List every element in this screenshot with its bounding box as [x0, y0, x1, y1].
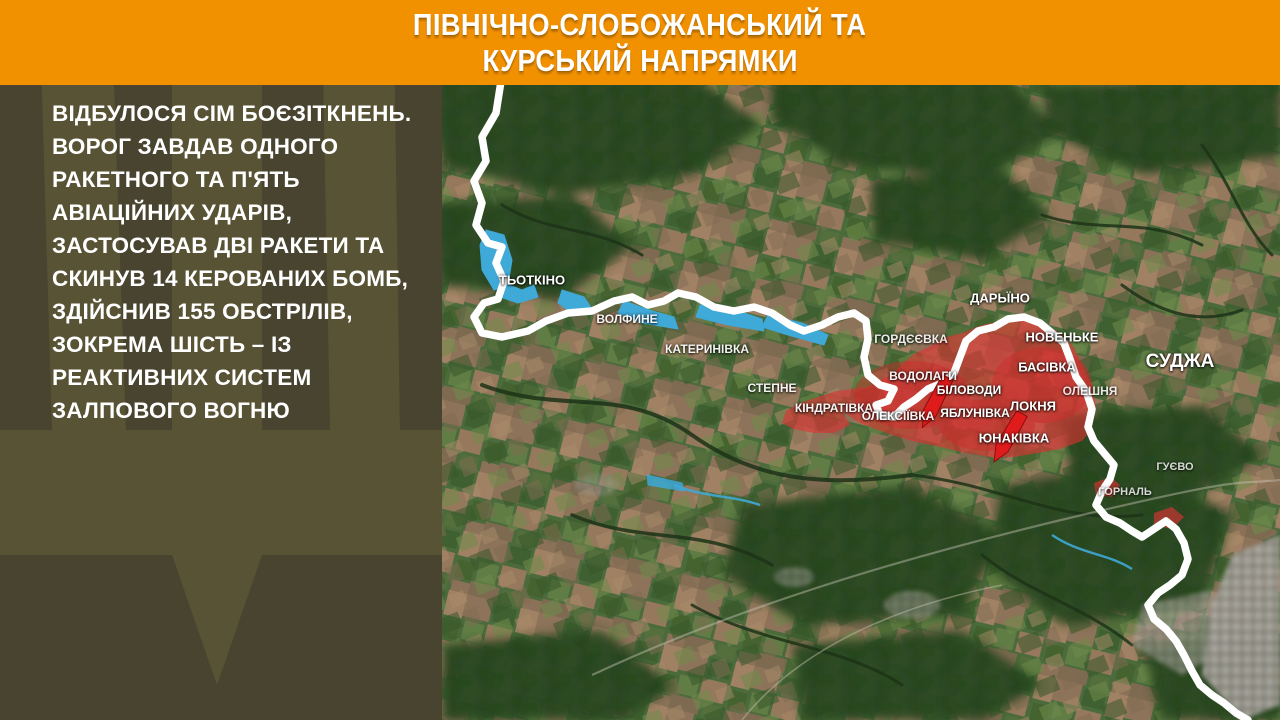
map-graphics — [442, 85, 1280, 720]
header-banner: ПІВНІЧНО-СЛОБОЖАНСЬКИЙ ТА КУРСЬКИЙ НАПРЯ… — [0, 0, 1280, 85]
summary-text: ВІДБУЛОСЯ СІМ БОЄЗІТКНЕНЬ. ВОРОГ ЗАВДАВ … — [52, 97, 432, 427]
satellite-map[interactable]: ТЬОТКІНОВОЛФИНЕКАТЕРИНІВКАСТЕПНЕКІНДРАТІ… — [442, 85, 1280, 720]
summary-panel: ВІДБУЛОСЯ СІМ БОЄЗІТКНЕНЬ. ВОРОГ ЗАВДАВ … — [0, 85, 442, 720]
infographic-root: ПІВНІЧНО-СЛОБОЖАНСЬКИЙ ТА КУРСЬКИЙ НАПРЯ… — [0, 0, 1280, 720]
header-title-line-2: КУРСЬКИЙ НАПРЯМКИ — [482, 43, 797, 79]
header-title-line-1: ПІВНІЧНО-СЛОБОЖАНСЬКИЙ ТА — [413, 7, 866, 43]
